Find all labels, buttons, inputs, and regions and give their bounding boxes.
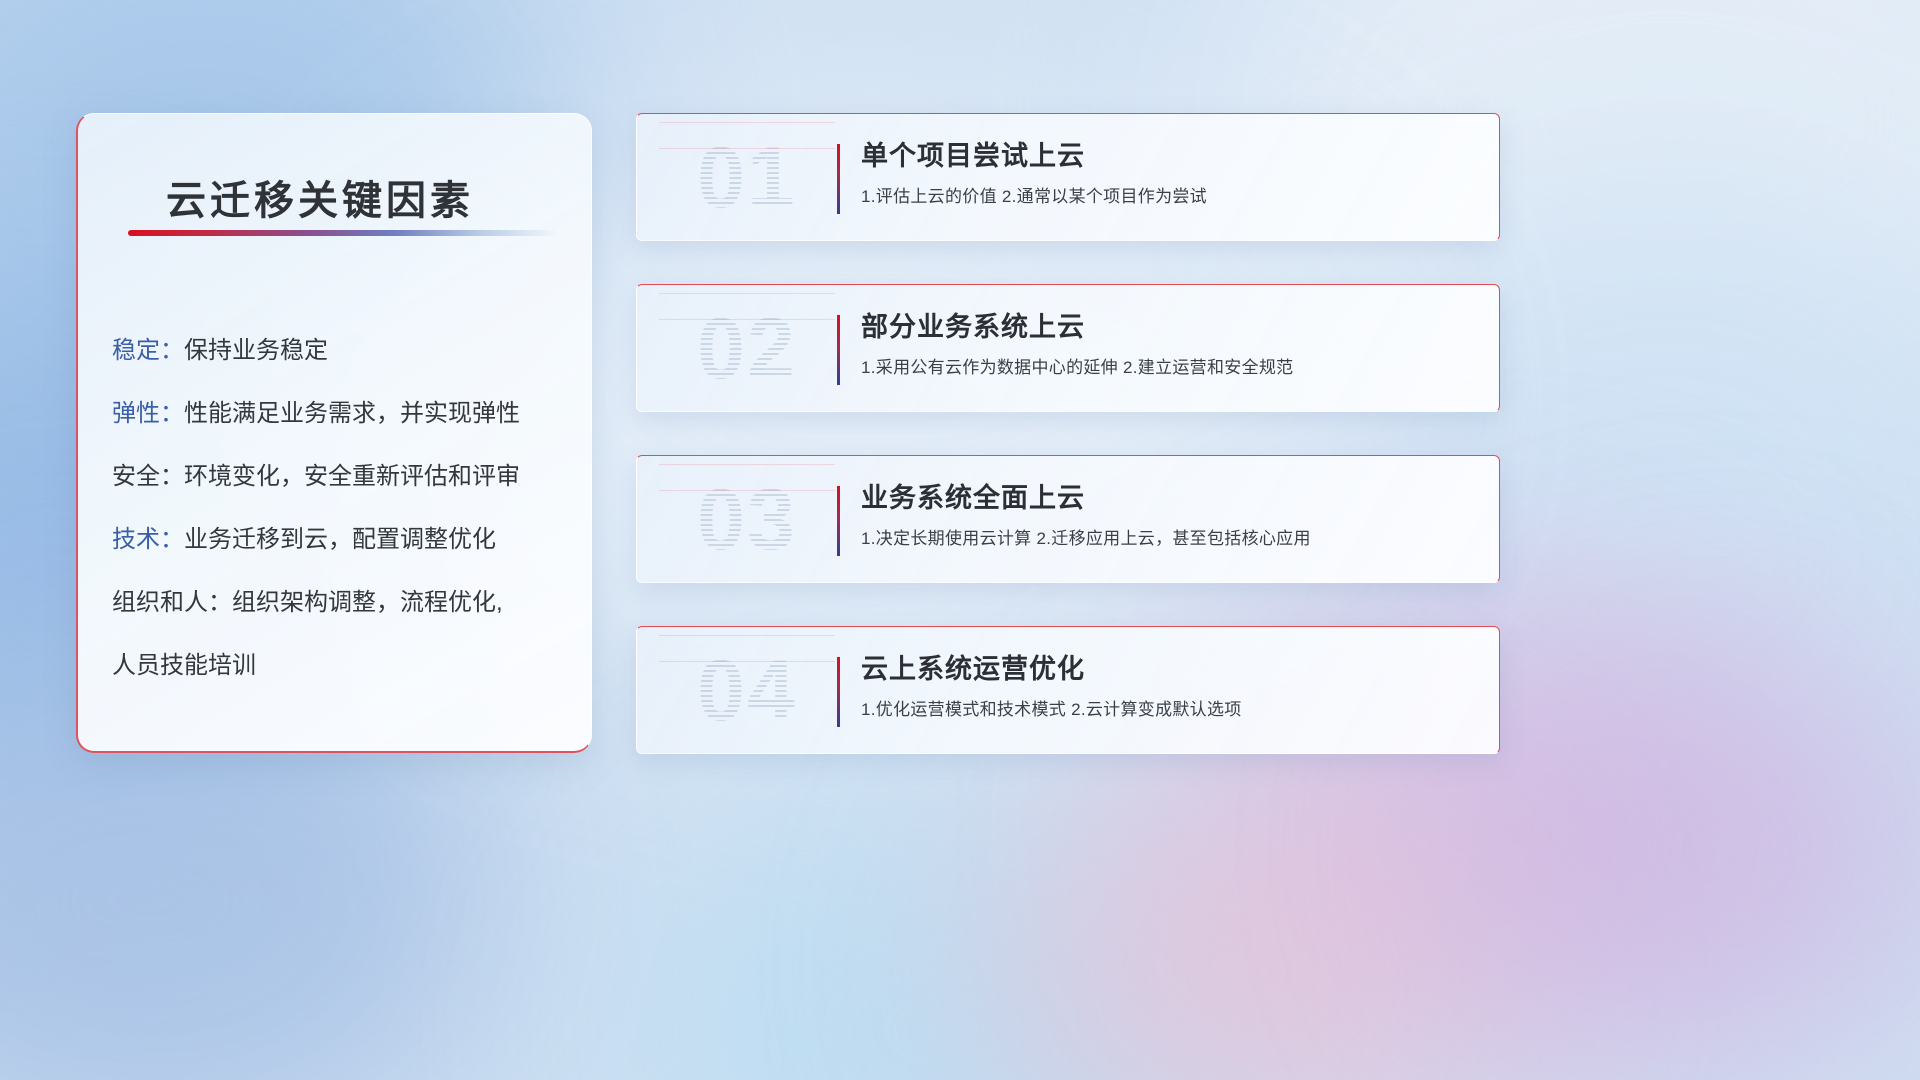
factor-label: 安全： xyxy=(112,463,184,490)
title-underline-gradient xyxy=(128,230,558,236)
stage-card[interactable]: 03 业务系统全面上云 1.决定长期使用云计算 2.迁移应用上云，甚至包括核心应… xyxy=(636,455,1500,583)
stage-card-body: 部分业务系统上云 1.采用公有云作为数据中心的延伸 2.建立运营和安全规范 xyxy=(861,307,1481,383)
accent-bar-icon xyxy=(837,315,840,385)
stage-number-watermark: 04 xyxy=(659,635,835,747)
stage-card[interactable]: 01 单个项目尝试上云 1.评估上云的价值 2.通常以某个项目作为尝试 xyxy=(636,113,1500,241)
stage-number-watermark: 02 xyxy=(659,293,835,405)
factor-text: 性能满足业务需求，并实现弹性 xyxy=(184,400,520,427)
factor-label: 稳定： xyxy=(112,337,184,364)
stage-title: 部分业务系统上云 xyxy=(861,307,1481,347)
factor-text: 业务迁移到云，配置调整优化 xyxy=(184,526,496,553)
factor-item: 稳定：保持业务稳定 xyxy=(112,319,573,382)
stage-subtitle: 1.决定长期使用云计算 2.迁移应用上云，甚至包括核心应用 xyxy=(861,524,1481,554)
stage-title: 云上系统运营优化 xyxy=(861,649,1481,689)
factor-label: 组织和人： xyxy=(112,589,232,616)
key-factors-panel: 云迁移关键因素 稳定：保持业务稳定 弹性：性能满足业务需求，并实现弹性 安全：环… xyxy=(76,113,592,753)
stage-card[interactable]: 02 部分业务系统上云 1.采用公有云作为数据中心的延伸 2.建立运营和安全规范 xyxy=(636,284,1500,412)
stage-card[interactable]: 04 云上系统运营优化 1.优化运营模式和技术模式 2.云计算变成默认选项 xyxy=(636,626,1500,754)
factor-item: 弹性：性能满足业务需求，并实现弹性 xyxy=(112,382,573,445)
stage-card-body: 单个项目尝试上云 1.评估上云的价值 2.通常以某个项目作为尝试 xyxy=(861,136,1481,212)
stage-subtitle: 1.优化运营模式和技术模式 2.云计算变成默认选项 xyxy=(861,695,1481,725)
factor-label: 弹性： xyxy=(112,400,184,427)
factor-label: 技术： xyxy=(112,526,184,553)
stage-subtitle: 1.采用公有云作为数据中心的延伸 2.建立运营和安全规范 xyxy=(861,353,1481,383)
stage-title: 单个项目尝试上云 xyxy=(861,136,1481,176)
factor-item: 技术：业务迁移到云，配置调整优化 xyxy=(112,508,573,571)
factor-text: 人员技能培训 xyxy=(112,652,256,679)
stage-title: 业务系统全面上云 xyxy=(861,478,1481,518)
stage-card-body: 业务系统全面上云 1.决定长期使用云计算 2.迁移应用上云，甚至包括核心应用 xyxy=(861,478,1481,554)
factor-text: 组织架构调整，流程优化, xyxy=(232,589,503,616)
stage-card-body: 云上系统运营优化 1.优化运营模式和技术模式 2.云计算变成默认选项 xyxy=(861,649,1481,725)
slide-stage: 云迁移关键因素 稳定：保持业务稳定 弹性：性能满足业务需求，并实现弹性 安全：环… xyxy=(0,0,1920,1080)
factor-text: 保持业务稳定 xyxy=(184,337,328,364)
accent-bar-icon xyxy=(837,144,840,214)
stage-number-watermark: 03 xyxy=(659,464,835,576)
stage-number-watermark: 01 xyxy=(659,122,835,234)
panel-title: 云迁移关键因素 xyxy=(166,168,474,226)
stage-subtitle: 1.评估上云的价值 2.通常以某个项目作为尝试 xyxy=(861,182,1481,212)
accent-bar-icon xyxy=(837,486,840,556)
stage-card-list: 01 单个项目尝试上云 1.评估上云的价值 2.通常以某个项目作为尝试 02 部… xyxy=(636,113,1500,754)
factor-item: 安全：环境变化，安全重新评估和评审 xyxy=(112,445,573,508)
factor-text: 环境变化，安全重新评估和评审 xyxy=(184,463,520,490)
factor-item-continuation: 人员技能培训 xyxy=(112,634,573,697)
factor-item: 组织和人：组织架构调整，流程优化, xyxy=(112,571,573,634)
factor-list: 稳定：保持业务稳定 弹性：性能满足业务需求，并实现弹性 安全：环境变化，安全重新… xyxy=(112,319,573,697)
accent-bar-icon xyxy=(837,657,840,727)
